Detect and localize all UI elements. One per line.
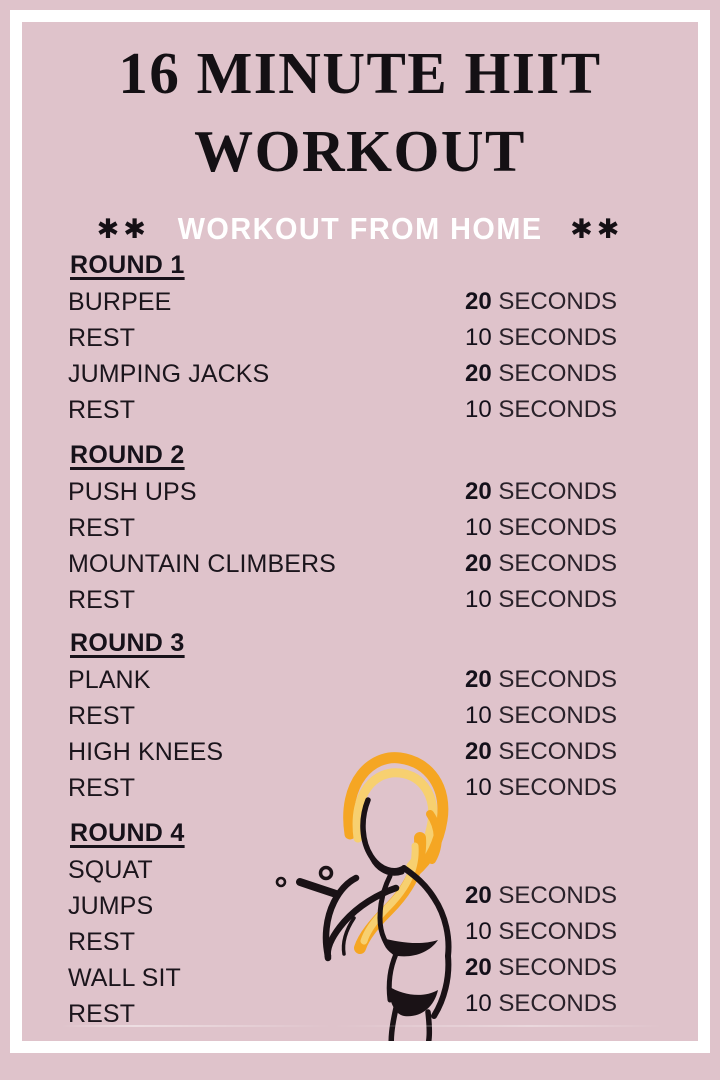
exercise-item: REST xyxy=(68,924,181,960)
time-value: 20 xyxy=(465,666,492,693)
poster-inner-area: 16 MINUTE HIIT WORKOUT ✱✱ WORKOUT FROM H… xyxy=(22,22,698,1041)
exercise-item: SQUAT xyxy=(68,852,181,888)
time-unit: SECONDS xyxy=(492,738,617,765)
round-heading: ROUND 2 xyxy=(70,440,185,470)
round-heading: ROUND 3 xyxy=(70,628,185,658)
time-item: 20 SECONDS xyxy=(465,662,617,698)
time-item: 10 SECONDS xyxy=(465,392,617,428)
time-unit: SECONDS xyxy=(492,514,617,541)
time-value: 20 xyxy=(465,478,492,505)
exercise-item: HIGH KNEES xyxy=(68,734,223,770)
time-list: 20 SECONDS10 SECONDS20 SECONDS10 SECONDS xyxy=(465,662,617,806)
time-value: 20 xyxy=(465,738,492,765)
time-item: 20 SECONDS xyxy=(465,734,617,770)
round-heading: ROUND 1 xyxy=(70,250,185,280)
exercise-list: SQUATJUMPSRESTWALL SITREST xyxy=(68,852,181,1032)
time-item: 20 SECONDS xyxy=(465,950,617,986)
exercise-item: WALL SIT xyxy=(68,960,181,996)
time-list: 20 SECONDS10 SECONDS20 SECONDS10 SECONDS xyxy=(465,284,617,428)
time-item: 20 SECONDS xyxy=(465,546,617,582)
time-list: 20 SECONDS10 SECONDS20 SECONDS10 SECONDS xyxy=(465,878,617,1022)
time-item: 10 SECONDS xyxy=(465,510,617,546)
exercise-item: REST xyxy=(68,510,336,546)
exercise-item: REST xyxy=(68,320,269,356)
time-item: 10 SECONDS xyxy=(465,698,617,734)
time-item: 10 SECONDS xyxy=(465,770,617,806)
time-value: 20 xyxy=(465,360,492,387)
time-item: 20 SECONDS xyxy=(465,356,617,392)
bottom-highlight-line xyxy=(62,1025,662,1027)
time-item: 10 SECONDS xyxy=(465,320,617,356)
exercise-item: REST xyxy=(68,392,269,428)
exercise-item: JUMPING JACKS xyxy=(68,356,269,392)
time-unit: SECONDS xyxy=(492,324,617,351)
exercise-item: REST xyxy=(68,770,223,806)
time-item: 20 SECONDS xyxy=(465,474,617,510)
time-unit: SECONDS xyxy=(492,478,617,505)
time-item: 10 SECONDS xyxy=(465,986,617,1022)
time-unit: SECONDS xyxy=(492,990,617,1017)
exercise-list: BURPEERESTJUMPING JACKSREST xyxy=(68,284,269,428)
time-unit: SECONDS xyxy=(492,918,617,945)
exercise-item: PUSH UPS xyxy=(68,474,336,510)
time-unit: SECONDS xyxy=(492,954,617,981)
exercise-item: JUMPS xyxy=(68,888,181,924)
exercise-item: REST xyxy=(68,698,223,734)
exercise-item: MOUNTAIN CLIMBERS xyxy=(68,546,336,582)
exercise-list: PLANKRESTHIGH KNEESREST xyxy=(68,662,223,806)
time-value: 20 xyxy=(465,954,492,981)
workout-poster: 16 MINUTE HIIT WORKOUT ✱✱ WORKOUT FROM H… xyxy=(0,0,720,1080)
exercise-list: PUSH UPSRESTMOUNTAIN CLIMBERSREST xyxy=(68,474,336,618)
round-heading: ROUND 4 xyxy=(70,818,185,848)
time-unit: SECONDS xyxy=(492,396,617,423)
time-unit: SECONDS xyxy=(492,550,617,577)
time-item: 10 SECONDS xyxy=(465,914,617,950)
time-unit: SECONDS xyxy=(492,288,617,315)
time-value: 20 xyxy=(465,550,492,577)
rounds-container: ROUND 1 BURPEERESTJUMPING JACKSREST 20 S… xyxy=(22,22,698,1041)
time-value: 10 xyxy=(465,514,492,541)
time-item: 20 SECONDS xyxy=(465,878,617,914)
time-value: 10 xyxy=(465,586,492,613)
time-list: 20 SECONDS10 SECONDS20 SECONDS10 SECONDS xyxy=(465,474,617,618)
time-unit: SECONDS xyxy=(492,882,617,909)
time-value: 10 xyxy=(465,774,492,801)
time-unit: SECONDS xyxy=(492,702,617,729)
time-unit: SECONDS xyxy=(492,666,617,693)
time-value: 20 xyxy=(465,882,492,909)
time-item: 20 SECONDS xyxy=(465,284,617,320)
time-value: 10 xyxy=(465,990,492,1017)
time-value: 10 xyxy=(465,324,492,351)
time-unit: SECONDS xyxy=(492,774,617,801)
time-value: 20 xyxy=(465,288,492,315)
exercise-item: PLANK xyxy=(68,662,223,698)
exercise-item: REST xyxy=(68,582,336,618)
exercise-item: BURPEE xyxy=(68,284,269,320)
time-unit: SECONDS xyxy=(492,586,617,613)
time-value: 10 xyxy=(465,396,492,423)
time-value: 10 xyxy=(465,918,492,945)
time-item: 10 SECONDS xyxy=(465,582,617,618)
time-value: 10 xyxy=(465,702,492,729)
time-unit: SECONDS xyxy=(492,360,617,387)
